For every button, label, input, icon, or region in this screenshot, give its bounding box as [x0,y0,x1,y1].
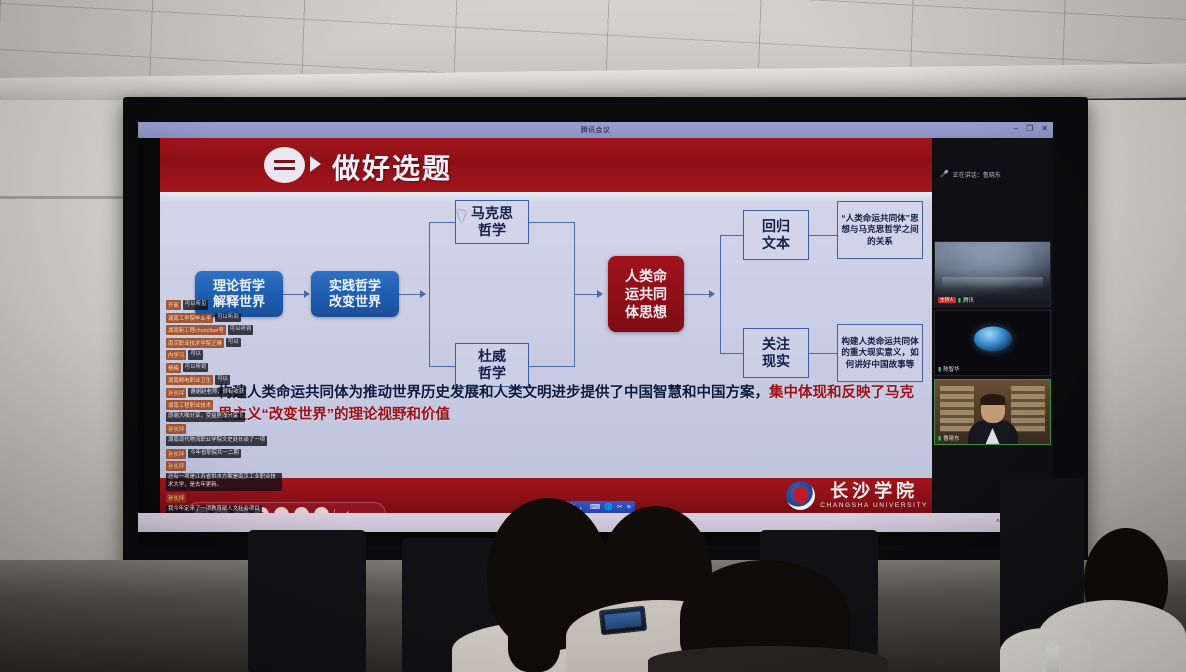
bracket-left-bottom [429,366,455,367]
university-name-en: CHANGSHA UNIVERSITY [820,502,928,509]
node-community-line3: 体思想 [625,303,667,321]
participant-name: 陈智华 [943,365,959,373]
node-community-line1: 人类命 [625,267,667,285]
chat-sender: 南京职业技术学院王琳 [166,338,224,348]
chat-message: 湖南新工程chunchun号 可以听到 [166,325,282,335]
merge-top-horizontal [529,222,575,223]
chat-text: 今年省职院共一二期 [188,449,241,459]
chat-text: 可以听到 [183,363,209,373]
chat-sender: 孙长坪 [166,388,186,398]
slide-header-band: 做好选题 [160,138,932,192]
bracket-left-vertical [429,222,430,367]
chat-message: 孙长坪 湖南现代物流职业学院文史处长谈了一项 [166,424,282,446]
node-practice-line1: 实践哲学 [329,278,381,294]
chat-sender: 湖南工学院毕业李 [166,313,213,323]
chat-sender: 杨梅 [166,363,181,373]
chat-text: 可以听到 [215,313,241,323]
chat-text: 可以听见 [183,300,209,310]
note-marx-relation: “人类命运共同体”思想与马克思哲学之间的关系 [837,201,923,259]
chat-message: 孙长坪 谢谢赵老师，很有收获 [166,388,282,398]
arrowhead-theory-practice [304,290,310,298]
node-dewey-line2: 哲学 [478,365,506,383]
arrowhead-to-community [597,290,603,298]
note-marx-relation-text: “人类命运共同体”思想与马克思哲学之间的关系 [841,213,919,247]
water-bottle [1046,646,1059,672]
node-marx-line1: 马克思 [471,205,513,223]
bracket-left-top [429,222,455,223]
arrowhead-practice-branch [420,290,426,298]
chat-message: 内学习 可以 [166,350,282,360]
audience-phone [599,606,647,636]
presenter-figure [967,392,1019,444]
ime-keyboard-icon[interactable]: ⌨ [590,503,600,511]
chat-message: 孙长坪 今年省职院共一二期 [166,449,282,459]
chat-sender: 湖南邮电职业卫生 [166,375,213,385]
presenter-hair [980,394,1005,405]
split-bottom [720,353,743,354]
window-title: 腾讯会议 [581,125,611,135]
shared-slide: 做好选题 理论哲学 解释世界 实践哲学 改变世界 [160,138,932,513]
display-screen: 腾讯会议 – ❐ ✕ 做好选题 理论哲学 解释世界 [138,122,1053,545]
audience-shoulders-right [648,646,888,672]
slide-title: 做好选题 [332,147,452,187]
link-practice-branch [399,294,421,295]
split-top [720,235,743,236]
node-dewey-philosophy: 杜威 哲学 [455,343,529,387]
speaking-wave-icon: ▮ [938,366,941,373]
participant-name: 腾讯 [963,296,974,304]
node-return-line2: 文本 [762,235,790,253]
chat-text: 谢谢赵老师，很有收获 [188,388,246,398]
chat-sender: 孙长坪 [166,493,186,503]
chat-sender: 孙长坪 [166,461,186,471]
close-icon[interactable]: ✕ [1041,124,1048,133]
node-practice-philosophy: 实践哲学 改变世界 [311,271,399,317]
link-return-note [809,235,837,236]
chat-sender: 齐部 [166,300,181,310]
merge-bottom-horizontal [529,366,575,367]
node-marx-philosophy: 马克思 哲学 [455,200,529,244]
ime-web-icon[interactable]: 🌐 [604,503,613,511]
video-tile-label: 主持人 ▮ 腾讯 [938,296,974,304]
chat-text: 可以 [226,338,241,348]
node-community-of-shared-future: 人类命 运共同 体思想 [608,256,684,332]
chat-message: 孙长坪 还有一项是江苏省供水方案是南京工业职业技术大学，是去年更新。 [166,461,282,491]
node-return-to-text: 回归 文本 [743,210,809,260]
chat-text: 可以 [215,375,230,385]
chat-message: 齐部 可以听见 [166,300,282,310]
university-logo-text: 长沙学院 CHANGSHA UNIVERSITY [820,482,928,509]
speaking-wave-icon: ▮ [938,435,941,442]
arrowhead-community-split [709,290,715,298]
chat-message: 湖南工程职业技术 感谢大咖分享，受益匪浅分享下 [166,400,282,422]
chat-message: 湖南邮电职业卫生 可以 [166,375,282,385]
video-tile-label: ▮ 陈智华 [938,365,960,373]
chat-text: 湖南现代物流职业学院文史处长谈了一项 [166,436,267,446]
university-seal-icon [786,481,815,510]
slide-paragraph: 构建人类命运共同体为推动世界历史发展和人类文明进步提供了中国智慧和中国方案，集中… [218,382,928,427]
wall-right-panel [1080,100,1186,580]
node-marx-line2: 哲学 [478,222,506,240]
video-tile-label: ▮ 鲁晓东 [938,434,960,442]
earth-avatar-icon [974,327,1012,352]
chat-text: 我今年定来了一项教育部人文社会项目 [166,505,262,513]
video-tile-room[interactable]: 主持人 ▮ 腾讯 [934,241,1051,307]
section-number-badge [264,147,305,183]
chat-message: 孙长坪 我今年定来了一项教育部人文社会项目 [166,493,282,513]
video-tile-avatar[interactable]: ▮ 陈智华 [934,310,1051,376]
maximize-icon[interactable]: ❐ [1026,124,1033,133]
classroom-scene: 腾讯会议 – ❐ ✕ 做好选题 理论哲学 解释世界 [0,0,1186,672]
slide-glare [160,192,932,202]
node-focus-line2: 现实 [762,353,790,371]
host-badge: 主持人 [938,297,956,303]
ime-menu-icon[interactable]: ≡ [627,504,631,511]
active-speaker-text: 正在讲话：鲁晓东 [953,170,1001,179]
chat-text: 还有一项是江苏省供水方案是南京工业职业技术大学，是去年更新。 [166,473,282,491]
link-community-split [684,294,710,295]
chat-sender: 孙长坪 [166,424,186,434]
header-arrow-icon [310,156,321,172]
chat-message: 杨梅 可以听到 [166,363,282,373]
chat-sender: 湖南工程职业技术 [166,400,213,410]
chat-overlay: 齐部 可以听见 湖南工学院毕业李 可以听到 湖南新工程chunchun号 可以听… [166,300,282,513]
slide-paragraph-part1: 构建人类命运共同体为推动世界历史发展和人类文明进步提供了中国智慧和中国方案， [218,385,769,401]
node-return-line1: 回归 [762,218,790,236]
video-panel: 🎤 正在讲话：鲁晓东 主持人 ▮ 腾讯 ▮ 陈智华 [932,138,1053,513]
speaking-wave-icon: ▮ [958,297,961,304]
link-theory-practice [283,294,305,295]
university-name-cn: 长沙学院 [830,482,918,500]
video-tile-presenter[interactable]: ▮ 鲁晓东 [934,379,1051,445]
node-dewey-line1: 杜威 [478,348,506,366]
node-community-line2: 运共同 [625,285,667,303]
active-speaker-bar: 🎤 正在讲话：鲁晓东 [932,166,1053,182]
node-focus-line1: 关注 [762,336,790,354]
audience-hair-bun-left [508,614,560,672]
merge-to-community [574,294,598,295]
note-practical-significance-text: 构建人类命运共同体的重大现实意义，如何讲好中国故事等 [841,336,919,370]
chat-text: 可以 [188,350,203,360]
chat-message: 南京职业技术学院王琳 可以 [166,338,282,348]
chair-back-left [248,530,366,672]
chat-text: 感谢大咖分享，受益匪浅分享下 [166,412,245,422]
microphone-icon: 🎤 [940,170,949,178]
link-focus-note [809,353,837,354]
node-focus-reality: 关注 现实 [743,328,809,378]
split-vertical [720,235,721,354]
chat-message: 湖南工学院毕业李 可以听到 [166,313,282,323]
window-controls[interactable]: – ❐ ✕ [1014,124,1048,133]
participant-name: 鲁晓东 [943,434,959,442]
ime-tools-icon[interactable]: ✂ [617,503,623,511]
minimize-icon[interactable]: – [1014,124,1018,133]
university-logo: 长沙学院 CHANGSHA UNIVERSITY [786,480,928,511]
chat-sender: 内学习 [166,350,186,360]
chat-text: 可以听到 [228,325,254,335]
note-practical-significance: 构建人类命运共同体的重大现实意义，如何讲好中国故事等 [837,324,923,382]
chat-sender: 湖南新工程chunchun号 [166,325,226,335]
node-practice-line2: 改变世界 [329,294,381,310]
meeting-window-titlebar: 腾讯会议 – ❐ ✕ [138,122,1053,138]
chat-sender: 孙长坪 [166,449,186,459]
node-theory-line1: 理论哲学 [213,278,265,294]
